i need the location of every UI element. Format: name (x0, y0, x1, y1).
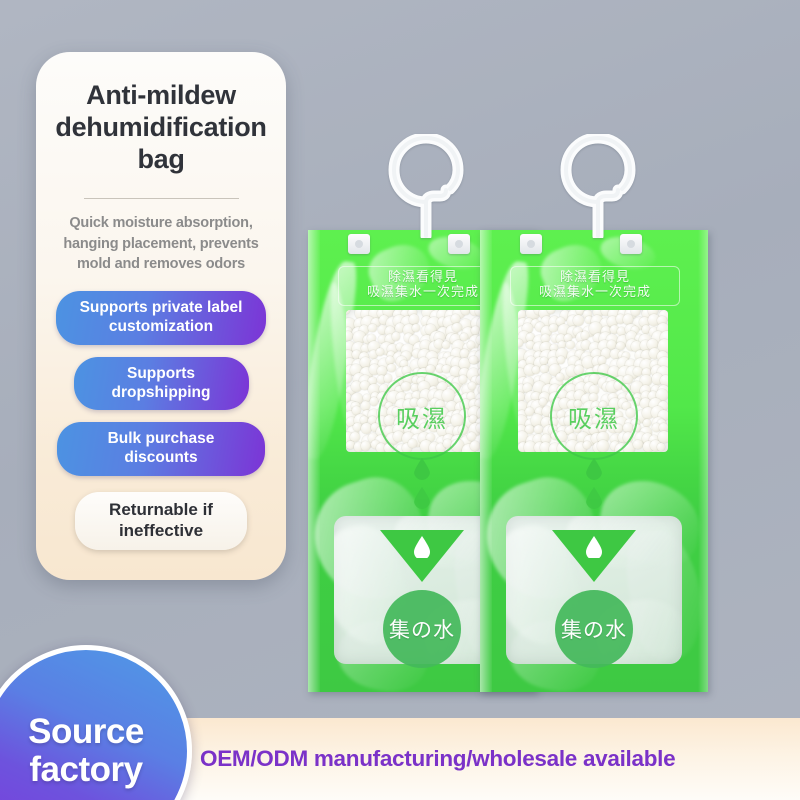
badge-line-1: Source (28, 713, 144, 751)
water-droplet-strip (409, 458, 435, 516)
absorb-moisture-badge: 吸濕 (378, 372, 466, 460)
droplet-icon (414, 458, 430, 480)
absorb-label: 吸濕 (396, 399, 448, 434)
dehumidifier-bag-right: 除濕看得見 吸濕集水一次完成 吸濕 (480, 230, 708, 692)
feature-pill-bulk-discount[interactable]: Bulk purchase discounts (57, 422, 265, 476)
feature-pill-returnable[interactable]: Returnable if ineffective (75, 492, 247, 549)
tagline-line-1: 除濕看得見 (345, 270, 501, 285)
bag-clip (520, 234, 542, 254)
page-title: Anti-mildew dehumidification bag (54, 80, 268, 176)
feature-pill-private-label[interactable]: Supports private label customization (56, 291, 266, 345)
tagline-line-2: 吸濕集水一次完成 (345, 285, 501, 300)
absorb-label: 吸濕 (568, 399, 620, 434)
card-subtitle: Quick moisture absorption, hanging place… (54, 213, 268, 275)
bag-clip (348, 234, 370, 254)
bag-seam-left (480, 230, 492, 692)
info-card: Anti-mildew dehumidification bag Quick m… (36, 52, 286, 580)
collected-water-badge: 集の水 (555, 590, 633, 668)
bag-clip (620, 234, 642, 254)
collected-water-badge: 集の水 (383, 590, 461, 668)
tagline-line-1: 除濕看得見 (517, 270, 673, 285)
package-tagline: 除濕看得見 吸濕集水一次完成 (510, 266, 680, 306)
divider (84, 198, 239, 200)
bag-seam-right (698, 230, 708, 692)
feature-pill-list: Supports private label customization Sup… (54, 291, 268, 550)
droplet-icon (586, 487, 602, 509)
water-label: 集の水 (389, 614, 455, 644)
badge-line-2: factory (29, 751, 142, 789)
product-marketing-image: 除濕看得見 吸濕集水一次完成 吸濕 (0, 0, 800, 800)
product-photo-area: 除濕看得見 吸濕集水一次完成 吸濕 (290, 60, 760, 640)
water-label: 集の水 (561, 614, 627, 644)
absorb-moisture-badge: 吸濕 (550, 372, 638, 460)
bag-clip (448, 234, 470, 254)
water-droplet-strip (581, 458, 607, 516)
droplet-icon (414, 487, 430, 509)
bag-seam-left (308, 230, 320, 692)
droplet-icon (586, 458, 602, 480)
feature-pill-dropshipping[interactable]: Supports dropshipping (74, 357, 249, 411)
banner-text: OEM/ODM manufacturing/wholesale availabl… (200, 746, 675, 772)
hanger-hook-icon (558, 134, 638, 238)
tagline-line-2: 吸濕集水一次完成 (517, 285, 673, 300)
bottom-banner: OEM/ODM manufacturing/wholesale availabl… (108, 718, 800, 800)
hanger-hook-icon (386, 134, 466, 238)
bag-body: 除濕看得見 吸濕集水一次完成 吸濕 (480, 230, 708, 692)
